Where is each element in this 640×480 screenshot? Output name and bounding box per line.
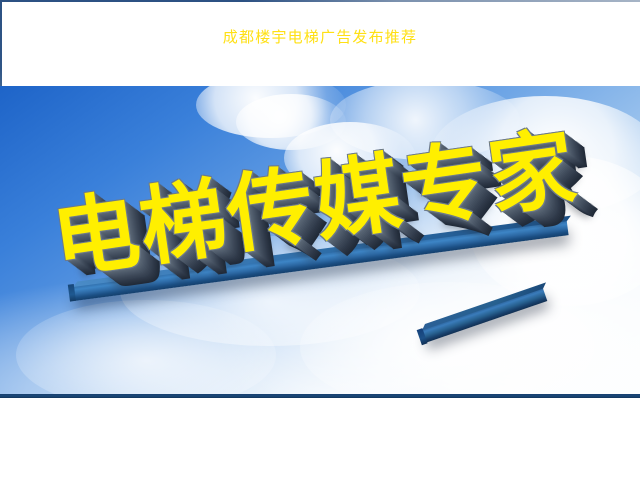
accent-bar-short-end-cap	[417, 328, 428, 345]
header-top-rule	[0, 0, 640, 2]
hero-image: 电梯传媒专家 电梯传媒专家 电梯传媒专家	[0, 86, 640, 395]
slide-footer	[0, 398, 640, 480]
hero-headline: 电梯传媒专家 电梯传媒专家 电梯传媒专家	[45, 106, 605, 361]
slide-header: 成都楼宇电梯广告发布推荐	[0, 0, 640, 86]
cloud-shape	[196, 86, 346, 138]
presentation-slide: 成都楼宇电梯广告发布推荐 电梯传媒专家 电梯传媒专家 电梯传媒专家	[0, 0, 640, 480]
page-title: 成都楼宇电梯广告发布推荐	[0, 26, 640, 47]
